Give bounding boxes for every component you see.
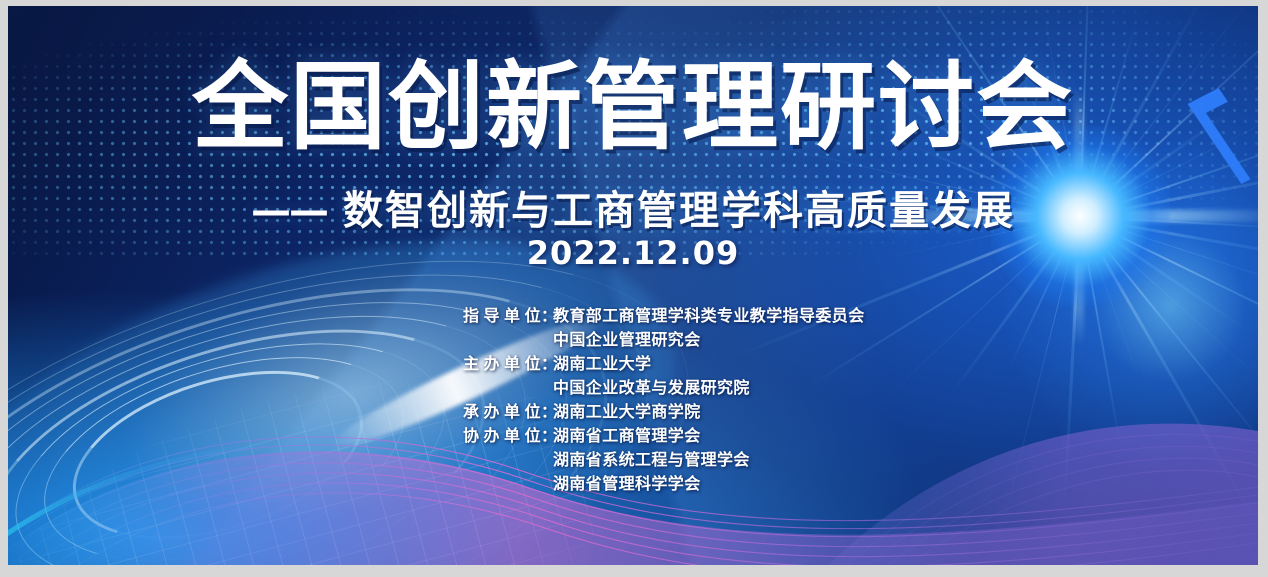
organization-name: 湖南工业大学商学院 bbox=[553, 398, 701, 422]
organization-row: 中国企业改革与发展研究院 bbox=[463, 374, 865, 398]
organization-row: 承办单位：湖南工业大学商学院 bbox=[463, 398, 865, 422]
banner-stage: 全国创新管理研讨会 ——数智创新与工商管理学科高质量发展 2022.12.09 … bbox=[8, 6, 1258, 565]
organization-name: 中国企业改革与发展研究院 bbox=[553, 374, 750, 398]
organization-colon: ： bbox=[541, 398, 553, 422]
subtitle-text: 数智创新与工商管理学科高质量发展 bbox=[343, 188, 1015, 234]
organization-colon: ： bbox=[541, 350, 553, 374]
organization-row: 指导单位：教育部工商管理学科类专业教学指导委员会 bbox=[463, 302, 865, 326]
organization-row: 湖南省系统工程与管理学会 bbox=[463, 446, 865, 470]
organization-name: 湖南省管理科学学会 bbox=[553, 470, 701, 494]
organization-row: 中国企业管理研究会 bbox=[463, 326, 865, 350]
organization-colon: ： bbox=[541, 422, 553, 446]
organization-name: 中国企业管理研究会 bbox=[553, 326, 701, 350]
organization-name: 湖南省系统工程与管理学会 bbox=[553, 446, 750, 470]
organization-name: 湖南省工商管理学会 bbox=[553, 422, 701, 446]
conference-banner: 全国创新管理研讨会 ——数智创新与工商管理学科高质量发展 2022.12.09 … bbox=[0, 0, 1268, 577]
banner-content: 全国创新管理研讨会 ——数智创新与工商管理学科高质量发展 2022.12.09 … bbox=[8, 6, 1258, 565]
organization-name: 教育部工商管理学科类专业教学指导委员会 bbox=[553, 302, 865, 326]
event-date: 2022.12.09 bbox=[8, 234, 1258, 272]
organization-row: 湖南省管理科学学会 bbox=[463, 470, 865, 494]
banner-subtitle: ——数智创新与工商管理学科高质量发展 bbox=[8, 178, 1258, 236]
organization-colon: ： bbox=[541, 302, 553, 326]
organization-label: 协办单位 bbox=[463, 422, 541, 446]
subtitle-dash: —— bbox=[251, 188, 327, 234]
organization-name: 湖南工业大学 bbox=[553, 350, 651, 374]
organization-row: 主办单位：湖南工业大学 bbox=[463, 350, 865, 374]
organization-label: 主办单位 bbox=[463, 350, 541, 374]
banner-title: 全国创新管理研讨会 bbox=[8, 56, 1258, 160]
organization-label: 承办单位 bbox=[463, 398, 541, 422]
organization-label: 指导单位 bbox=[463, 302, 541, 326]
organization-row: 协办单位：湖南省工商管理学会 bbox=[463, 422, 865, 446]
organization-list: 指导单位：教育部工商管理学科类专业教学指导委员会中国企业管理研究会主办单位：湖南… bbox=[463, 302, 865, 494]
